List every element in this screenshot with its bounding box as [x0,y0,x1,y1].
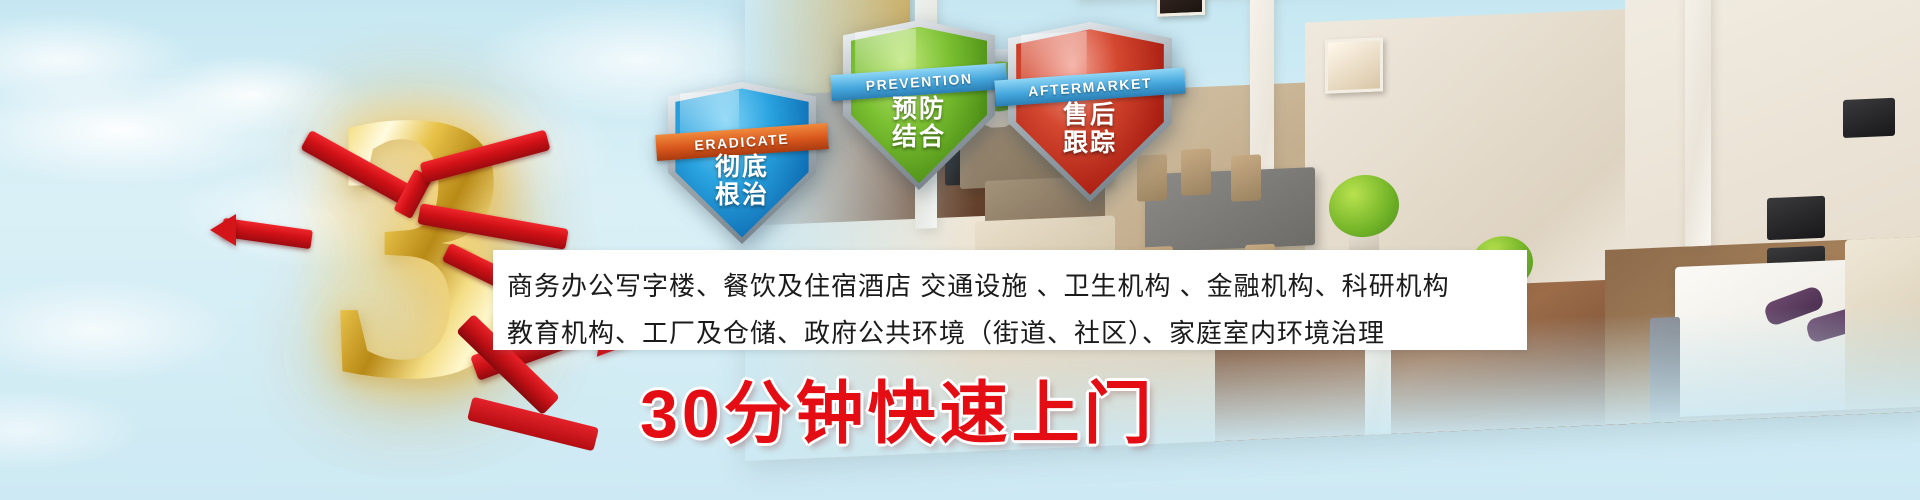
promo-banner: 3 ERADICATE 彻底 根治 PREVENTION [0,0,1920,500]
service-scope-line-1: 商务办公写字楼、餐饮及住宿酒店 交通设施 、卫生机构 、金融机构、科研机构 [493,266,1527,303]
shield-cn-line1: 预防 [892,95,946,123]
shield-badge-eradicate: ERADICATE 彻底 根治 [668,82,816,244]
shield-cn-line2: 跟踪 [1008,129,1172,157]
service-scope-line-2: 教育机构、工厂及仓储、政府公共环境（街道、社区）、家庭室内环境治理 [493,313,1527,350]
shield-cn-line2: 根治 [668,181,816,209]
shield-badge-prevention: PREVENTION 预防 结合 [843,20,995,190]
shield-cn-line2: 结合 [843,123,995,151]
shield-cn-line1: 售后 [1063,101,1117,129]
shield-cn-line1: 彻底 [715,153,769,181]
shield-chinese-text: 售后 跟踪 [1008,101,1172,157]
shield-chinese-text: 彻底 根治 [668,153,816,209]
headline-text: 30分钟快速上门 [640,358,1156,457]
shield-badge-aftermarket: AFTERMARKET 售后 跟踪 [1008,22,1172,202]
shield-chinese-text: 预防 结合 [843,95,995,151]
service-scope-panel: 商务办公写字楼、餐饮及住宿酒店 交通设施 、卫生机构 、金融机构、科研机构 教育… [493,250,1527,350]
